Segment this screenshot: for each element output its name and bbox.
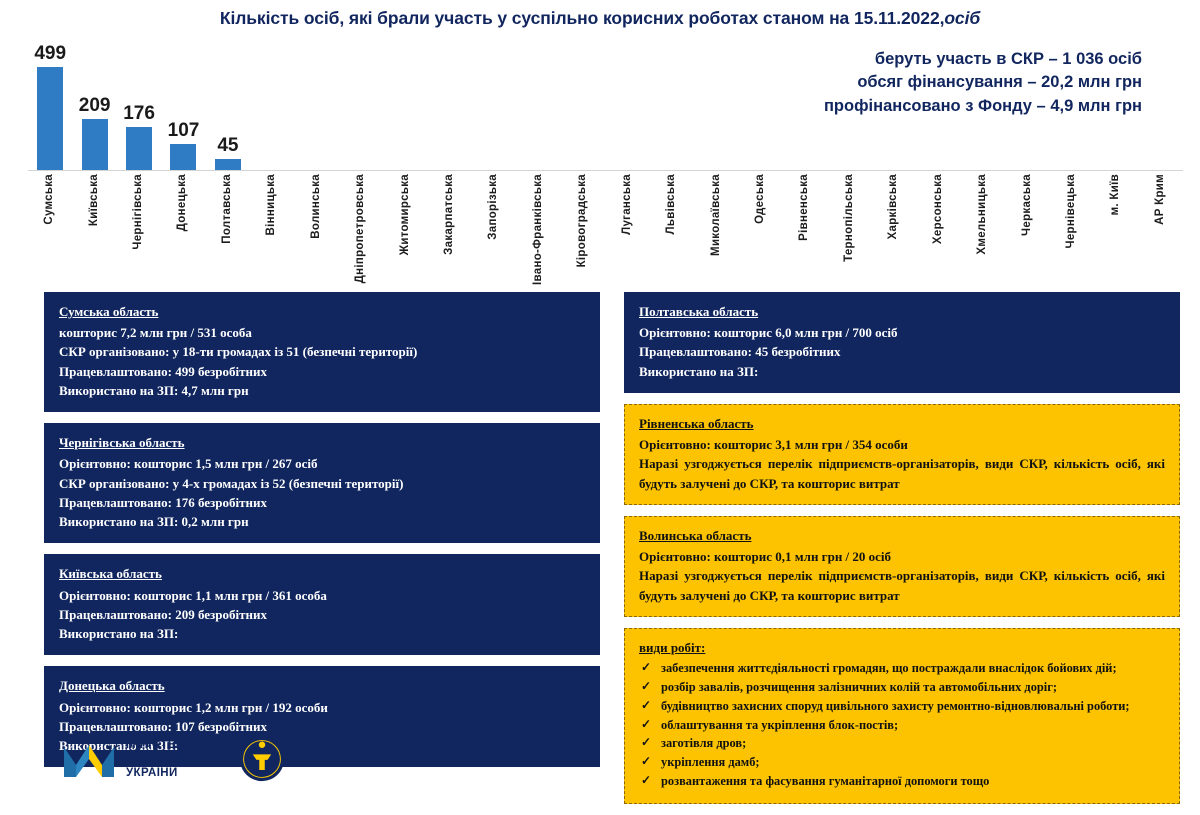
region-box-line: Працевлаштовано: 107 безробітних (59, 717, 585, 736)
region-box-line: Працевлаштовано: 499 безробітних (59, 362, 585, 381)
region-box-note: Наразі узгоджується перелік підприємств-… (639, 566, 1165, 604)
x-axis-label-26: АР Крим (1154, 174, 1166, 225)
x-axis-label-9: Житомирська (399, 174, 411, 255)
bar-15 (659, 44, 685, 170)
bar-26 (1148, 44, 1174, 170)
work-type-text: укріплення дамб; (661, 755, 760, 769)
region-box-line: Орієнтовно: кошторис 6,0 млн грн / 700 о… (639, 323, 1165, 342)
region-box-title: Сумська область (59, 302, 585, 321)
ministry-logo-line2: ЕКОНОМІКИ (126, 752, 217, 766)
region-box-title: Полтавська область (639, 302, 1165, 321)
checkmark-icon: ✓ (641, 697, 651, 713)
x-axis-label-3: Чернігівська (132, 174, 144, 250)
work-type-text: будівництво захисних споруд цивільного з… (661, 699, 1130, 713)
ministry-logo-line3: УКРАЇНИ (126, 766, 217, 780)
region-box-line: Орієнтовно: кошторис 0,1 млн грн / 20 ос… (639, 547, 1165, 566)
x-axis-label-15: Львівська (665, 174, 677, 235)
bar-9 (393, 44, 419, 170)
x-axis-label-21: Херсонська (932, 174, 944, 244)
bar-22 (970, 44, 996, 170)
region-box-title: Чернігівська область (59, 433, 585, 452)
x-axis-label-5: Полтавська (221, 174, 233, 244)
bar-6 (259, 44, 285, 170)
region-box-line: Використано на ЗП: (639, 362, 1165, 381)
work-types-box: види робіт:✓забезпечення життєдіяльності… (624, 628, 1180, 804)
region-column-right: Полтавська областьОрієнтовно: кошторис 6… (624, 292, 1180, 815)
x-axis-label-1: Сумська (43, 174, 55, 225)
bar-1: 499 (37, 44, 63, 170)
x-axis-label-13: Кіровоградська (576, 174, 588, 267)
x-axis-label-20: Харківська (887, 174, 899, 239)
region-box-line: СКР організовано: у 4-х громадах із 52 (… (59, 474, 585, 493)
region-box-line: Використано на ЗП: 0,2 млн грн (59, 512, 585, 531)
bar-rect (82, 119, 108, 170)
bar-10 (437, 44, 463, 170)
bar-16 (704, 44, 730, 170)
page-title-text: Кількість осіб, які брали участь у суспі… (220, 8, 980, 29)
region-box-note: Наразі узгоджується перелік підприємств-… (639, 454, 1165, 492)
bar-value-label: 499 (34, 44, 66, 63)
region-box-line: Працевлаштовано: 209 безробітних (59, 605, 585, 624)
x-axis-label-19: Тернопільська (843, 174, 855, 262)
region-right-box-3: Волинська областьОрієнтовно: кошторис 0,… (624, 516, 1180, 617)
page-title: Кількість осіб, які брали участь у суспі… (0, 8, 1200, 29)
bar-18 (792, 44, 818, 170)
checkmark-icon: ✓ (641, 716, 651, 732)
x-axis-label-18: Рівненська (798, 174, 810, 241)
work-type-text: забезпечення життєдіяльності громадян, щ… (661, 661, 1117, 675)
bar-chart-x-axis-labels: СумськаКиївськаЧернігівськаДонецькаПолта… (28, 174, 1183, 284)
bar-2: 209 (82, 44, 108, 170)
bar-20 (881, 44, 907, 170)
bar-value-label: 45 (217, 136, 238, 155)
region-box-line: кошторис 7,2 млн грн / 531 особа (59, 323, 585, 342)
page-title-main: Кількість осіб, які брали участь у суспі… (220, 8, 944, 28)
work-types-list: ✓забезпечення життєдіяльності громадян, … (639, 660, 1165, 790)
region-box-title: Донецька область (59, 676, 585, 695)
checkmark-icon: ✓ (641, 772, 651, 788)
bar-13 (570, 44, 596, 170)
work-type-item-3: ✓будівництво захисних споруд цивільного … (639, 698, 1165, 715)
x-axis-label-16: Миколаївська (710, 174, 722, 256)
checkmark-icon: ✓ (641, 659, 651, 675)
ministry-logo-line1: МІНІСТЕРСТВО (126, 738, 217, 752)
region-box-title: Волинська область (639, 526, 1165, 545)
x-axis-label-2: Київська (88, 174, 100, 226)
bar-rect (215, 159, 241, 170)
region-box-line: Орієнтовно: кошторис 1,2 млн грн / 192 о… (59, 698, 585, 717)
region-boxes: Сумська областькошторис 7,2 млн грн / 53… (0, 292, 1200, 800)
infographic-page: Кількість осіб, які брали участь у суспі… (0, 0, 1200, 800)
bar-19 (837, 44, 863, 170)
bar-chart: 49920917610745 СумськаКиївськаЧернігівсь… (28, 44, 1183, 284)
bar-3: 176 (126, 44, 152, 170)
region-box-title: Київська область (59, 564, 585, 583)
x-axis-label-7: Волинська (310, 174, 322, 239)
region-left-box-3: Київська областьОрієнтовно: кошторис 1,1… (44, 554, 600, 655)
x-axis-label-8: Дніпропетровська (354, 174, 366, 283)
region-box-line: Працевлаштовано: 176 безробітних (59, 493, 585, 512)
page-title-suffix: осіб (944, 8, 980, 28)
bar-5: 45 (215, 44, 241, 170)
bar-24 (1059, 44, 1085, 170)
region-box-line: Орієнтовно: кошторис 1,5 млн грн / 267 о… (59, 454, 585, 473)
x-axis-label-22: Хмельницька (976, 174, 988, 255)
x-axis-label-4: Донецька (176, 174, 188, 231)
work-type-item-4: ✓облаштування та укріплення блок-постів; (639, 717, 1165, 734)
x-axis-label-6: Вінницька (265, 174, 277, 235)
work-type-item-5: ✓заготівля дров; (639, 735, 1165, 752)
checkmark-icon: ✓ (641, 753, 651, 769)
bar-rect (126, 127, 152, 170)
x-axis-label-14: Луганська (621, 174, 633, 235)
region-column-left: Сумська областькошторис 7,2 млн грн / 53… (44, 292, 600, 778)
bar-4: 107 (170, 44, 196, 170)
region-box-line: Орієнтовно: кошторис 3,1 млн грн / 354 о… (639, 435, 1165, 454)
bar-value-label: 107 (168, 121, 200, 140)
x-axis-label-23: Черкаська (1021, 174, 1033, 236)
bar-21 (926, 44, 952, 170)
region-left-box-2: Чернігівська областьОрієнтовно: кошторис… (44, 423, 600, 543)
region-box-line: Орієнтовно: кошторис 1,1 млн грн / 361 о… (59, 586, 585, 605)
x-axis-label-12: Івано-Франківська (532, 174, 544, 285)
ministry-of-economy-logo: МІНІСТЕРСТВО ЕКОНОМІКИ УКРАЇНИ (62, 738, 217, 780)
employment-service-emblem-icon (239, 736, 285, 782)
work-type-item-1: ✓забезпечення життєдіяльності громадян, … (639, 660, 1165, 677)
work-type-item-7: ✓розвантаження та фасування гуманітарної… (639, 773, 1165, 790)
work-type-text: розбір завалів, розчищення залізничних к… (661, 680, 1057, 694)
checkmark-icon: ✓ (641, 678, 651, 694)
region-box-line: Працевлаштовано: 45 безробітних (639, 342, 1165, 361)
bar-chart-plot-area: 49920917610745 (28, 44, 1183, 170)
bar-rect (37, 67, 63, 170)
ministry-logo-text: МІНІСТЕРСТВО ЕКОНОМІКИ УКРАЇНИ (126, 738, 217, 780)
bar-17 (748, 44, 774, 170)
bar-7 (304, 44, 330, 170)
work-types-title: види робіт: (639, 638, 1165, 657)
logo-bar: МІНІСТЕРСТВО ЕКОНОМІКИ УКРАЇНИ (62, 736, 285, 782)
work-type-text: облаштування та укріплення блок-постів; (661, 718, 898, 732)
bar-8 (348, 44, 374, 170)
region-box-line: Використано на ЗП: (59, 624, 585, 643)
work-type-item-6: ✓укріплення дамб; (639, 754, 1165, 771)
region-left-box-1: Сумська областькошторис 7,2 млн грн / 53… (44, 292, 600, 412)
x-axis-label-24: Чернівецька (1065, 174, 1077, 249)
chart-axis-line (28, 170, 1183, 171)
region-box-line: СКР організовано: у 18-ти громадах із 51… (59, 342, 585, 361)
x-axis-label-25: м. Київ (1109, 174, 1121, 215)
x-axis-label-17: Одеська (754, 174, 766, 224)
x-axis-label-10: Закарпатська (443, 174, 455, 255)
work-type-text: заготівля дров; (661, 736, 746, 750)
bar-12 (526, 44, 552, 170)
checkmark-icon: ✓ (641, 734, 651, 750)
x-axis-label-11: Запорізька (487, 174, 499, 240)
region-right-box-1: Полтавська областьОрієнтовно: кошторис 6… (624, 292, 1180, 393)
bar-rect (170, 144, 196, 170)
bar-value-label: 209 (79, 96, 111, 115)
bar-value-label: 176 (123, 104, 155, 123)
region-box-title: Рівненська область (639, 414, 1165, 433)
region-right-box-2: Рівненська областьОрієнтовно: кошторис 3… (624, 404, 1180, 505)
work-type-item-2: ✓розбір завалів, розчищення залізничних … (639, 679, 1165, 696)
ministry-mark-icon (62, 739, 116, 779)
bar-23 (1015, 44, 1041, 170)
bar-14 (615, 44, 641, 170)
work-type-text: розвантаження та фасування гуманітарної … (661, 774, 989, 788)
bar-25 (1103, 44, 1129, 170)
bar-11 (481, 44, 507, 170)
region-box-line: Використано на ЗП: 4,7 млн грн (59, 381, 585, 400)
